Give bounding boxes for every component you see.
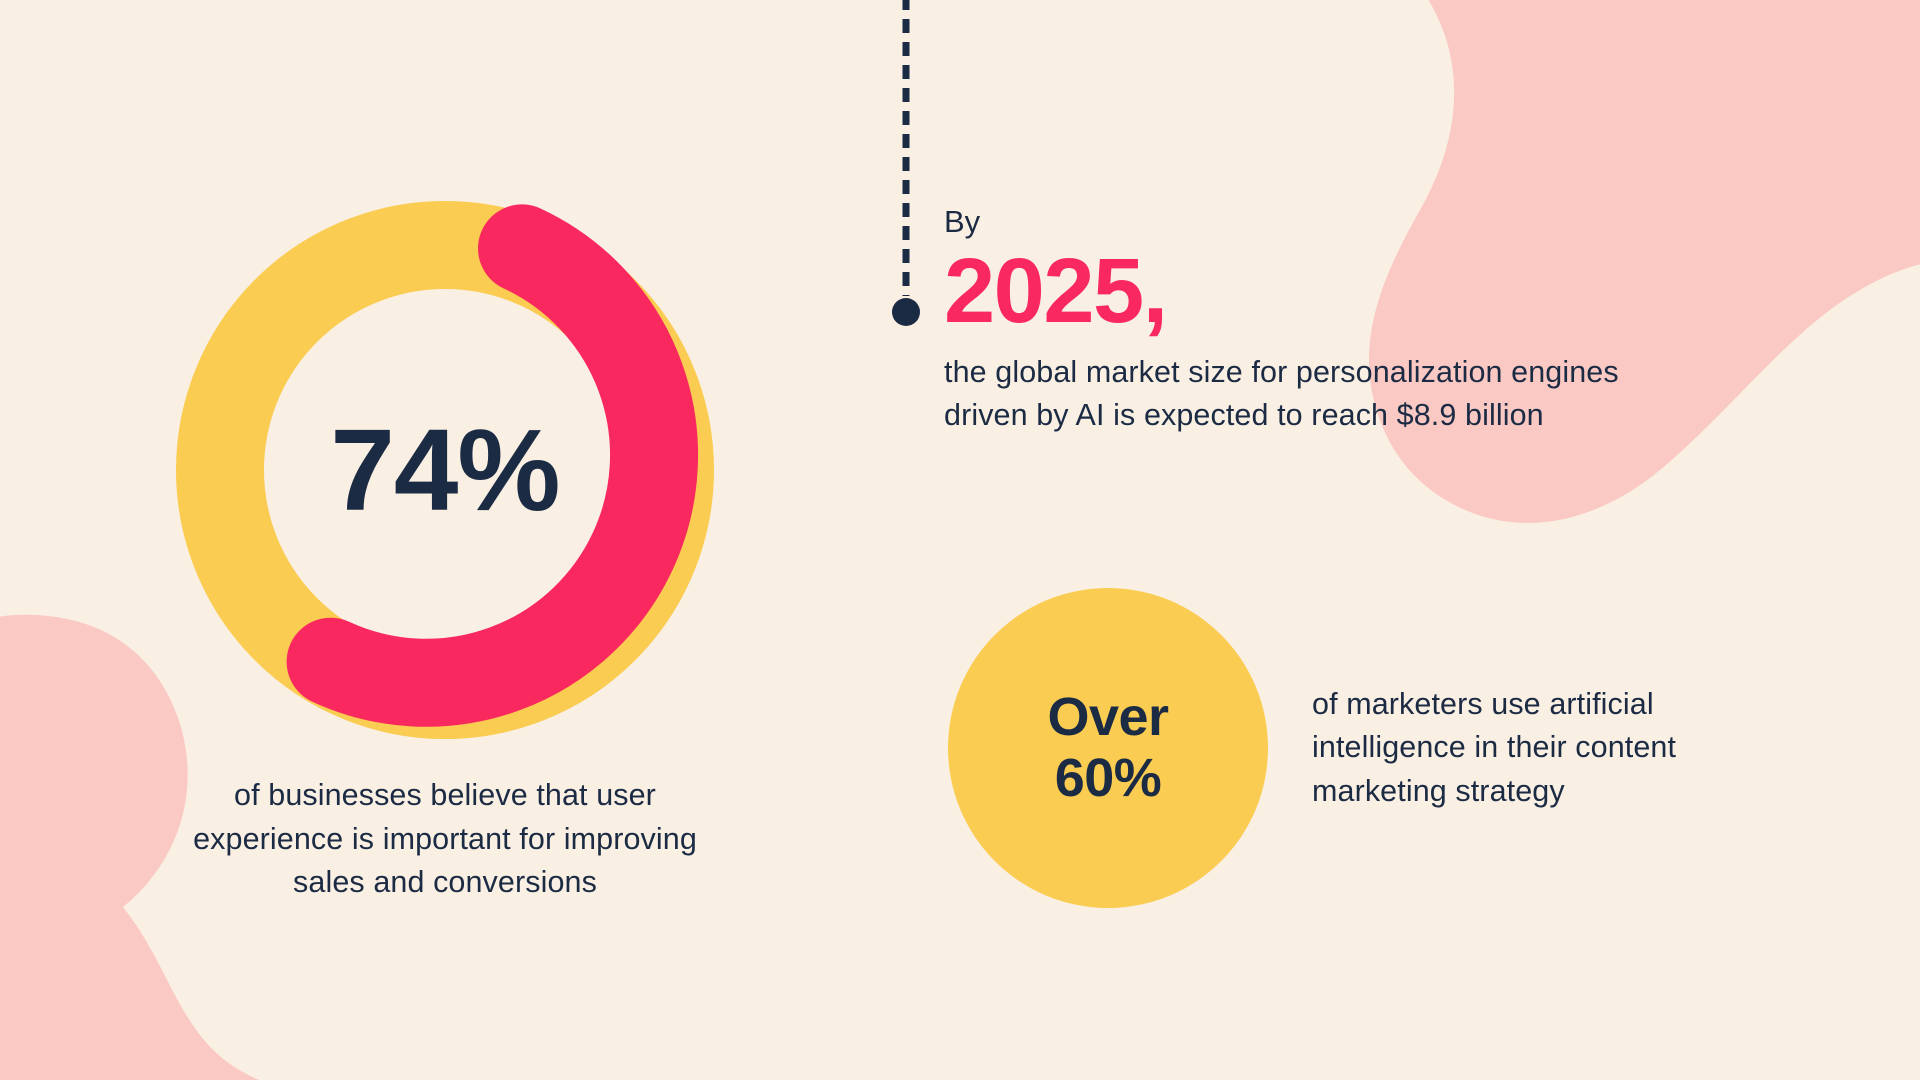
circle-stat-block: Over 60% of marketers use artificial int… (948, 588, 1732, 908)
donut-stat-block: 74% of businesses believe that user expe… (155, 180, 735, 905)
blob-top-right (1530, 0, 1920, 130)
year-stat-block: By 2025, the global market size for pers… (944, 205, 1664, 437)
donut-caption: of businesses believe that user experien… (155, 774, 735, 905)
year-prefix-label: By (944, 205, 1664, 239)
circle-stat-value: Over 60% (1047, 687, 1168, 809)
dashed-connector (878, 0, 934, 336)
circle-stat-description: of marketers use artificial intelligence… (1312, 683, 1732, 813)
circle-stat-badge: Over 60% (948, 588, 1268, 908)
year-value: 2025, (944, 243, 1664, 341)
infographic-canvas: 74% of businesses believe that user expe… (0, 0, 1920, 1080)
donut-chart: 74% (155, 180, 735, 760)
donut-center-value: 74% (155, 180, 735, 760)
year-description: the global market size for personalizati… (944, 351, 1664, 438)
connector-dot (892, 298, 920, 326)
